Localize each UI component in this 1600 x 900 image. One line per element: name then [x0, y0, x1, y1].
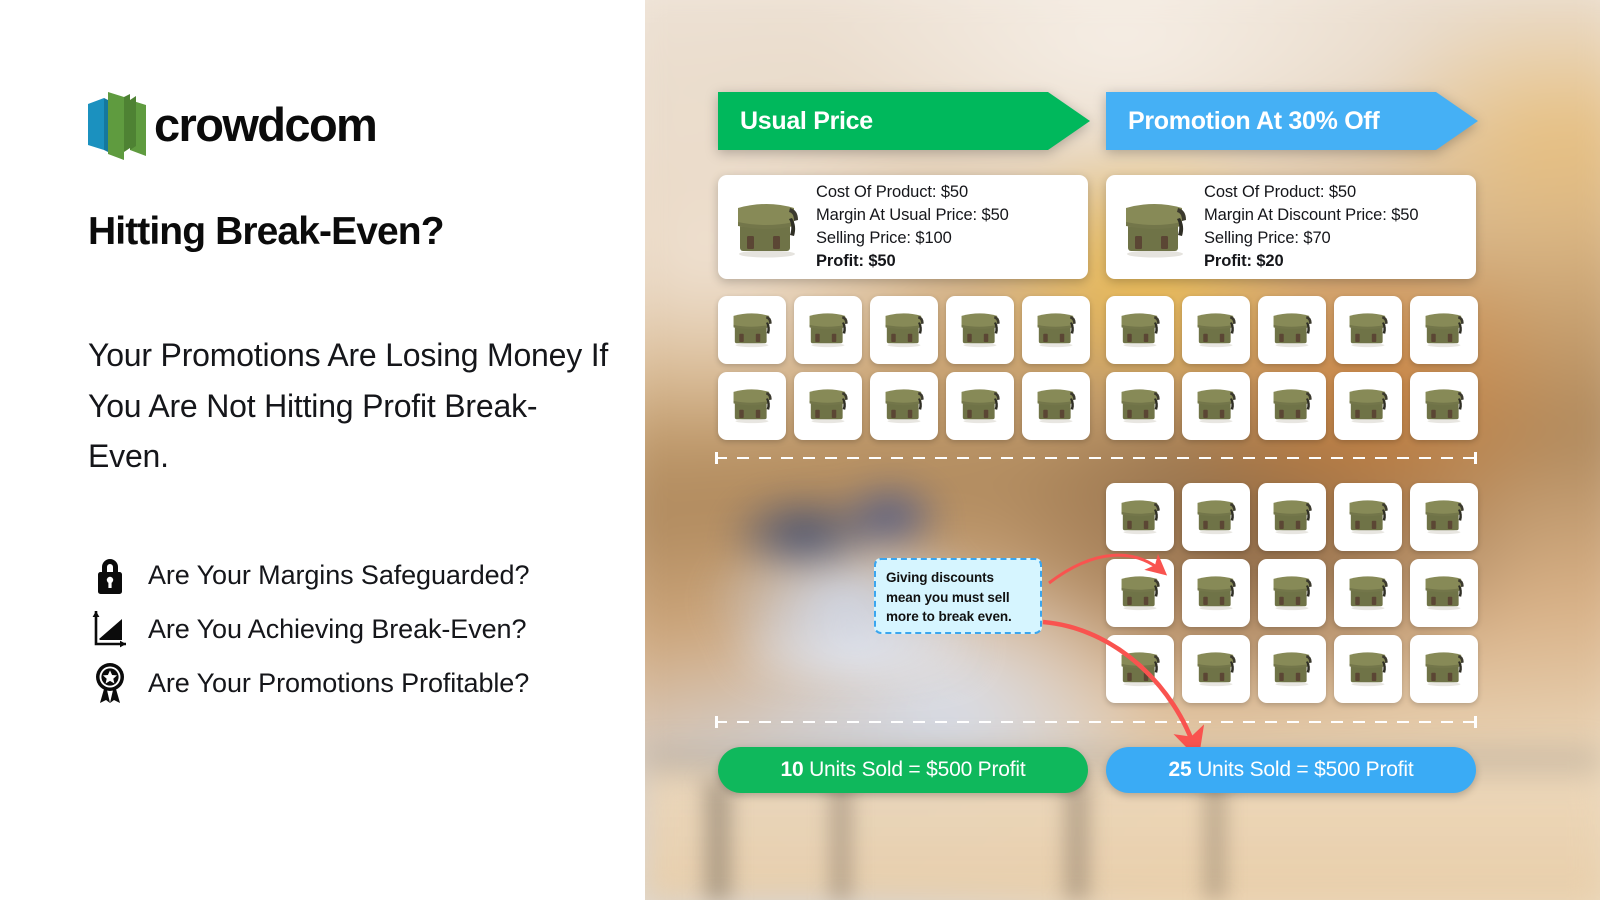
product-unit-tile [1334, 483, 1402, 551]
messenger-bag-icon [1419, 570, 1469, 617]
messenger-bag-icon [1267, 494, 1317, 541]
break-even-rule-bottom [715, 721, 1477, 723]
product-unit-tile [1410, 296, 1478, 364]
product-unit-tile [1258, 296, 1326, 364]
rule-end-cap [715, 716, 718, 728]
lock-icon [86, 551, 134, 599]
product-unit-tile [1106, 483, 1174, 551]
page-title: Hitting Break-Even? [88, 210, 628, 254]
product-unit-tile [1334, 559, 1402, 627]
messenger-bag-icon [1419, 646, 1469, 693]
promotion-result-bar: 25 Units Sold = $500 Profit [1106, 747, 1476, 793]
product-unit-tile [1258, 559, 1326, 627]
usual-price-banner-label: Usual Price [740, 107, 873, 136]
messenger-bag-icon [1343, 646, 1393, 693]
banner-arrow-tip-icon [1436, 92, 1478, 150]
messenger-bag-icon [1115, 646, 1165, 693]
messenger-bag-icon [1419, 383, 1469, 430]
messenger-bag-icon [955, 307, 1005, 354]
promotion-result-text: 25 Units Sold = $500 Profit [1168, 758, 1413, 782]
card-line: Cost Of Product: $50 [816, 181, 1009, 204]
messenger-bag-icon [1267, 646, 1317, 693]
messenger-bag-icon [1191, 570, 1241, 617]
messenger-bag-icon [1267, 570, 1317, 617]
messenger-bag-icon [1343, 383, 1393, 430]
break-even-rule-top [715, 457, 1477, 459]
brand-name: crowdcom [154, 101, 376, 148]
product-unit-tile [1334, 372, 1402, 440]
card-line: Margin At Discount Price: $50 [1204, 204, 1418, 227]
promotion-price-card-lines: Cost Of Product: $50 Margin At Discount … [1204, 181, 1418, 272]
left-content-panel: crowdcom Hitting Break-Even? Your Promot… [0, 0, 645, 900]
usual-price-card-lines: Cost Of Product: $50 Margin At Usual Pri… [816, 181, 1009, 272]
usual-price-banner: Usual Price [718, 92, 1090, 150]
promotion-banner-label: Promotion At 30% Off [1128, 107, 1379, 136]
card-line: Selling Price: $100 [816, 227, 1009, 250]
product-unit-tile [1182, 296, 1250, 364]
list-item: Are Your Promotions Profitable? [86, 656, 631, 710]
infographic-canvas: crowdcom Hitting Break-Even? Your Promot… [0, 0, 1600, 900]
messenger-bag-icon [803, 383, 853, 430]
messenger-bag-icon [1031, 383, 1081, 430]
list-item-label: Are Your Margins Safeguarded? [148, 560, 529, 591]
messenger-bag-icon [727, 307, 777, 354]
list-item: Are You Achieving Break-Even? [86, 602, 631, 656]
usual-price-card: Cost Of Product: $50 Margin At Usual Pri… [718, 175, 1088, 279]
product-unit-tile [1410, 635, 1478, 703]
list-item-label: Are You Achieving Break-Even? [148, 614, 526, 645]
page-subtitle: Your Promotions Are Losing Money If You … [88, 330, 618, 482]
rule-end-cap [1474, 452, 1477, 464]
product-unit-tile [1106, 559, 1174, 627]
product-unit-tile [794, 372, 862, 440]
messenger-bag-icon [1419, 494, 1469, 541]
brand-logo: crowdcom [86, 88, 376, 160]
messenger-bag-icon [1419, 307, 1469, 354]
product-unit-tile [870, 296, 938, 364]
messenger-bag-icon [727, 383, 777, 430]
usual-price-result-rest: Units Sold = $500 Profit [803, 758, 1025, 781]
messenger-bag-icon [1267, 383, 1317, 430]
discount-callout-text: Giving discounts mean you must sell more… [886, 568, 1030, 627]
card-line: Selling Price: $70 [1204, 227, 1418, 250]
card-profit-line: Profit: $20 [1204, 250, 1418, 273]
messenger-bag-icon [1115, 494, 1165, 541]
product-unit-tile [946, 296, 1014, 364]
comparison-panel: Usual Price Promotion At 30% Off [645, 0, 1600, 900]
award-badge-icon [86, 659, 134, 707]
promotion-result-count: 25 [1168, 758, 1191, 781]
break-even-chart-icon [86, 605, 134, 653]
messenger-bag-icon [1343, 570, 1393, 617]
product-unit-tile [1258, 635, 1326, 703]
background-table-leg [705, 780, 731, 900]
messenger-bag-icon [1191, 383, 1241, 430]
promotion-result-rest: Units Sold = $500 Profit [1191, 758, 1413, 781]
product-unit-tile [1258, 372, 1326, 440]
messenger-bag-icon [955, 383, 1005, 430]
card-line: Cost Of Product: $50 [1204, 181, 1418, 204]
messenger-bag-icon [1116, 194, 1194, 260]
rule-end-cap [1474, 716, 1477, 728]
product-unit-tile [1182, 559, 1250, 627]
messenger-bag-icon [1191, 307, 1241, 354]
messenger-bag-icon [1343, 307, 1393, 354]
messenger-bag-icon [879, 383, 929, 430]
product-unit-tile [1182, 483, 1250, 551]
product-unit-tile [1258, 483, 1326, 551]
product-unit-tile [1334, 635, 1402, 703]
card-profit-line: Profit: $50 [816, 250, 1009, 273]
product-unit-tile [1106, 635, 1174, 703]
messenger-bag-icon [1031, 307, 1081, 354]
product-unit-tile [1106, 296, 1174, 364]
product-unit-tile [1334, 296, 1402, 364]
messenger-bag-icon [728, 194, 806, 260]
crowdcom-building-mark-icon [86, 88, 148, 160]
messenger-bag-icon [803, 307, 853, 354]
product-unit-tile [794, 296, 862, 364]
messenger-bag-icon [879, 307, 929, 354]
product-unit-tile [870, 372, 938, 440]
promotion-unit-grid-extra [1106, 483, 1478, 703]
promotion-price-card: Cost Of Product: $50 Margin At Discount … [1106, 175, 1476, 279]
messenger-bag-icon [1343, 494, 1393, 541]
product-unit-tile [718, 372, 786, 440]
benefit-list: Are Your Margins Safeguarded? Are You Ac… [86, 548, 631, 710]
rule-end-cap [715, 452, 718, 464]
discount-callout: Giving discounts mean you must sell more… [874, 558, 1042, 634]
product-unit-tile [718, 296, 786, 364]
product-unit-tile [1410, 559, 1478, 627]
promotion-unit-grid-top [1106, 296, 1478, 440]
usual-price-unit-grid [718, 296, 1090, 440]
product-unit-tile [1182, 635, 1250, 703]
product-unit-tile [946, 372, 1014, 440]
messenger-bag-icon [1191, 646, 1241, 693]
product-unit-tile [1106, 372, 1174, 440]
background-table-leg [1065, 780, 1089, 900]
messenger-bag-icon [1115, 383, 1165, 430]
promotion-banner: Promotion At 30% Off [1106, 92, 1478, 150]
product-unit-tile [1182, 372, 1250, 440]
messenger-bag-icon [1267, 307, 1317, 354]
card-line: Margin At Usual Price: $50 [816, 204, 1009, 227]
product-unit-tile [1022, 372, 1090, 440]
usual-price-result-bar: 10 Units Sold = $500 Profit [718, 747, 1088, 793]
product-unit-tile [1410, 483, 1478, 551]
background-table-leg [830, 780, 852, 900]
banner-arrow-tip-icon [1048, 92, 1090, 150]
product-unit-tile [1410, 372, 1478, 440]
usual-price-result-text: 10 Units Sold = $500 Profit [780, 758, 1025, 782]
list-item-label: Are Your Promotions Profitable? [148, 668, 529, 699]
product-unit-tile [1022, 296, 1090, 364]
messenger-bag-icon [1115, 570, 1165, 617]
background-table-leg [1205, 780, 1225, 900]
list-item: Are Your Margins Safeguarded? [86, 548, 631, 602]
messenger-bag-icon [1115, 307, 1165, 354]
usual-price-result-count: 10 [780, 758, 803, 781]
messenger-bag-icon [1191, 494, 1241, 541]
